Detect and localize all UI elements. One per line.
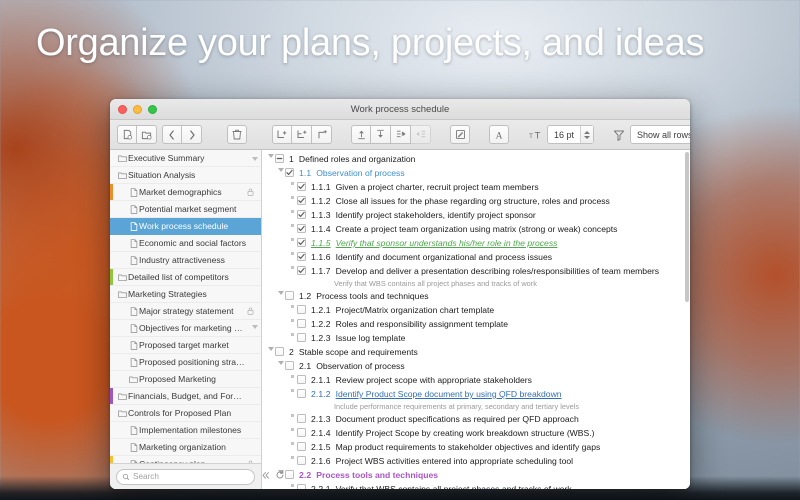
row-text: Roles and responsibility assignment temp… [336, 318, 690, 330]
sidebar-item-major-strategy-statement[interactable]: Major strategy statement [110, 303, 261, 320]
svg-text:T: T [535, 131, 541, 140]
outline-scrollbar[interactable] [685, 152, 689, 487]
folder-icon [117, 154, 128, 163]
row-bullet-icon [288, 441, 297, 445]
row-text: Issue log template [336, 332, 690, 344]
new-document-icon [122, 129, 133, 140]
sidebar-item-contingency-plan[interactable]: Contingency plan [110, 456, 261, 463]
disclosure-triangle-icon[interactable] [276, 360, 285, 365]
table-row[interactable]: 2.1.5Map product requirements to stakeho… [262, 440, 690, 454]
sidebar-scroll-indicator-top [252, 157, 258, 161]
window-body: Executive SummarySituation AnalysisMarke… [110, 150, 690, 489]
sidebar-item-label: Objectives for marketing plan [139, 323, 246, 333]
row-checkbox[interactable] [297, 238, 306, 247]
svg-text:T: T [529, 133, 533, 140]
row-text: Given a project charter, recruit project… [336, 181, 690, 193]
row-text: Verify that sponsor understands his/her … [336, 237, 690, 249]
sidebar-item-label: Potential market segment [139, 204, 246, 214]
back-chevron-icon [168, 130, 176, 140]
row-number: 1.1.6 [306, 251, 336, 263]
row-number: 2.1.6 [306, 455, 336, 467]
disclosure-triangle-icon[interactable] [276, 167, 285, 172]
sidebar-item-situation-analysis[interactable]: Situation Analysis [110, 167, 261, 184]
file-icon [128, 205, 139, 214]
row-checkbox[interactable] [297, 210, 306, 219]
row-checkbox[interactable] [297, 305, 306, 314]
sidebar-item-label: Proposed positioning strategy [139, 357, 246, 367]
sidebar-item-label: Marketing organization [139, 442, 246, 452]
collapse-sidebar-icon [261, 471, 270, 480]
add-parent-row-icon [316, 129, 328, 140]
lock-icon [246, 460, 255, 463]
row-checkbox[interactable] [297, 442, 306, 451]
row-checkbox[interactable] [285, 168, 294, 177]
move-up-button[interactable] [351, 125, 371, 144]
outline-row-group: 2Stable scope and requirements [262, 345, 690, 359]
row-bullet-icon [288, 413, 297, 417]
sidebar-item-economic-and-social-factors[interactable]: Economic and social factors [110, 235, 261, 252]
sidebar-item-marketing-organization[interactable]: Marketing organization [110, 439, 261, 456]
row-bullet-icon [288, 209, 297, 213]
row-text: Observation of process [316, 167, 690, 179]
sidebar-item-industry-attractiveness[interactable]: Industry attractiveness [110, 252, 261, 269]
lock-icon [246, 307, 255, 315]
add-child-row-icon [296, 129, 308, 140]
row-checkbox[interactable] [297, 389, 306, 398]
row-text: Process tools and techniques [316, 469, 690, 481]
file-icon [128, 358, 139, 367]
row-checkbox[interactable] [297, 456, 306, 465]
add-parent-row-button[interactable] [312, 125, 332, 144]
row-checkbox[interactable] [297, 266, 306, 275]
row-text: Close all issues for the phase regarding… [336, 195, 690, 207]
toolbar: A T T 16 pt Show all rows [110, 120, 690, 150]
row-number: 1.2.2 [306, 318, 336, 330]
row-number: 2 [284, 346, 299, 358]
delete-button[interactable] [227, 125, 247, 144]
table-row[interactable]: 2.1.4Identify Project Scope by creating … [262, 426, 690, 440]
sidebar-item-label: Major strategy statement [139, 306, 246, 316]
indent-button[interactable] [391, 125, 411, 144]
row-number: 1.1.3 [306, 209, 336, 221]
sidebar-item-color-stripe [110, 388, 113, 404]
row-number: 2.1.3 [306, 413, 336, 425]
move-down-icon [375, 129, 386, 140]
new-folder-button[interactable] [137, 125, 157, 144]
sidebar-footer-actions [261, 470, 285, 480]
sidebar-item-label: Market demographics [139, 187, 246, 197]
search-icon [122, 473, 130, 481]
document-actions-group [117, 125, 157, 144]
outdent-icon [415, 129, 427, 140]
table-row[interactable]: 1.1Observation of process [262, 166, 690, 180]
outline-row-group: 1.2.1Project/Matrix organization chart t… [262, 303, 690, 317]
row-checkbox[interactable] [285, 361, 294, 370]
outline-row-group: 1.1.2Close all issues for the phase rega… [262, 194, 690, 208]
row-bullet-icon [288, 332, 297, 336]
row-checkbox[interactable] [275, 347, 284, 356]
row-number: 2.2 [294, 469, 316, 481]
font-size-value: 16 pt [548, 130, 580, 140]
sidebar-item-label: Detailed list of competitors [128, 272, 246, 282]
folder-icon [117, 392, 128, 401]
outline-row-group: 1.1.7Develop and deliver a presentation … [262, 264, 690, 289]
refresh-icon [275, 470, 285, 480]
row-bullet-icon [288, 237, 297, 241]
add-sibling-row-button[interactable] [272, 125, 292, 144]
file-icon [128, 256, 139, 265]
disclosure-triangle-icon[interactable] [266, 346, 275, 351]
sidebar-item-label: Situation Analysis [128, 170, 246, 180]
row-bullet-icon [288, 265, 297, 269]
svg-text:A: A [496, 131, 503, 140]
text-size-control[interactable]: T T [528, 125, 542, 144]
outline-row-group: 2.2Process tools and techniques [262, 468, 690, 482]
row-text: Identify Project Scope by creating work … [336, 427, 690, 439]
file-icon [128, 222, 139, 231]
sidebar-item-color-stripe [110, 456, 113, 463]
row-text: Verify that WBS contains all project pha… [336, 483, 690, 489]
outline-row-group: 1.1.3Identify project stakeholders, iden… [262, 208, 690, 222]
table-row[interactable]: 1.1.5Verify that sponsor understands his… [262, 236, 690, 250]
row-checkbox[interactable] [297, 252, 306, 261]
outline-row-group: 1.1.4Create a project team organization … [262, 222, 690, 236]
window-titlebar[interactable]: Work process schedule [110, 99, 690, 120]
window-title: Work process schedule [110, 104, 690, 115]
row-text: Defined roles and organization [299, 153, 690, 165]
close-button[interactable] [118, 105, 127, 114]
sidebar-item-label: Industry attractiveness [139, 255, 246, 265]
row-bullet-icon [288, 318, 297, 322]
outline-row-group: 1Defined roles and organization [262, 152, 690, 166]
sidebar-item-label: Economic and social factors [139, 238, 246, 248]
row-text: Create a project team organization using… [336, 223, 690, 235]
new-folder-icon [141, 129, 152, 140]
page-headline: Organize your plans, projects, and ideas [36, 22, 776, 65]
row-bullet-icon [288, 455, 297, 459]
sidebar-item-color-stripe [110, 184, 113, 200]
table-row[interactable]: 2.1.1Review project scope with appropria… [262, 373, 690, 387]
table-row[interactable]: 2Stable scope and requirements [262, 345, 690, 359]
row-number: 2.1.2 [306, 388, 336, 400]
table-row[interactable]: 1.1.1Given a project charter, recruit pr… [262, 180, 690, 194]
row-number: 1.1.4 [306, 223, 336, 235]
outline-row-group: 2.1.5Map product requirements to stakeho… [262, 440, 690, 454]
sidebar-item-label: Contingency plan [139, 459, 246, 463]
font-panel-icon: A [493, 129, 505, 141]
minimize-button[interactable] [133, 105, 142, 114]
outline-row-group: 1.1.5Verify that sponsor understands his… [262, 236, 690, 250]
sidebar-item-marketing-strategies[interactable]: Marketing Strategies [110, 286, 261, 303]
table-row[interactable]: 2.1.3Document product specifications as … [262, 412, 690, 426]
sidebar-list[interactable]: Executive SummarySituation AnalysisMarke… [110, 150, 261, 463]
outline-row-group: 1.2Process tools and techniques [262, 289, 690, 303]
folder-icon [117, 273, 128, 282]
font-panel-group: A [489, 125, 509, 144]
sidebar-scroll-indicator-bottom [252, 325, 258, 329]
sidebar-item-objectives-for-marketing-plan[interactable]: Objectives for marketing plan [110, 320, 261, 337]
note-group [450, 125, 470, 144]
sidebar-item-label: Marketing Strategies [128, 289, 246, 299]
row-checkbox[interactable] [297, 224, 306, 233]
table-row[interactable]: 2.2Process tools and techniques [262, 468, 690, 482]
sidebar-item-executive-summary[interactable]: Executive Summary [110, 150, 261, 167]
file-icon [128, 324, 139, 333]
navigation-group [162, 125, 202, 144]
row-bullet-icon [288, 195, 297, 199]
sidebar-item-financials-budget-and-forecasts[interactable]: Financials, Budget, and Forecasts [110, 388, 261, 405]
row-bullet-icon [288, 181, 297, 185]
table-row[interactable]: 1.2.3Issue log template [262, 331, 690, 345]
row-number: 2.1.5 [306, 441, 336, 453]
sidebar-item-label: Financials, Budget, and Forecasts [128, 391, 246, 401]
outline-row-group: 2.1Observation of process [262, 359, 690, 373]
refresh-button[interactable] [275, 470, 285, 480]
row-checkbox[interactable] [297, 333, 306, 342]
folder-icon [117, 409, 128, 418]
disclosure-triangle-icon[interactable] [276, 290, 285, 295]
row-checkbox[interactable] [285, 291, 294, 300]
row-text: Identify project stakeholders, identify … [336, 209, 690, 221]
table-row[interactable]: 1.1.7Develop and deliver a presentation … [262, 264, 690, 278]
row-number: 2.1 [294, 360, 316, 372]
row-bullet-icon [288, 251, 297, 255]
sidebar-item-controls-for-proposed-plan[interactable]: Controls for Proposed Plan [110, 405, 261, 422]
forward-chevron-icon [188, 130, 196, 140]
rows-filter-combo[interactable]: Show all rows [630, 125, 690, 144]
table-row[interactable]: 1.2.1Project/Matrix organization chart t… [262, 303, 690, 317]
file-icon [128, 341, 139, 350]
sidebar-item-detailed-list-of-competitors[interactable]: Detailed list of competitors [110, 269, 261, 286]
back-button[interactable] [162, 125, 182, 144]
edit-note-button[interactable] [450, 125, 470, 144]
sidebar-item-work-process-schedule[interactable]: Work process schedule [110, 218, 261, 235]
outline-row-group: 2.2.1Verify that WBS contains all projec… [262, 482, 690, 489]
rows-filter-value: Show all rows [631, 130, 690, 140]
row-number: 1.1 [294, 167, 316, 179]
indent-icon [395, 129, 407, 140]
row-number: 1 [284, 153, 299, 165]
row-checkbox[interactable] [275, 154, 284, 163]
outline-row-group: 1.1.1Given a project charter, recruit pr… [262, 180, 690, 194]
outline-row-group: 2.1.2Identify Product Scope document by … [262, 387, 690, 412]
table-row[interactable]: 1.1.4Create a project team organization … [262, 222, 690, 236]
delete-group [227, 125, 247, 144]
table-row[interactable]: 1.1.3Identify project stakeholders, iden… [262, 208, 690, 222]
table-row[interactable]: 1.1.2Close all issues for the phase rega… [262, 194, 690, 208]
row-text: Observation of process [316, 360, 690, 372]
font-size-stepper[interactable] [580, 126, 593, 143]
row-number: 1.2.1 [306, 304, 336, 316]
row-note: Verify that WBS contains all project pha… [262, 278, 690, 289]
collapse-sidebar-button[interactable] [261, 471, 270, 480]
new-document-button[interactable] [117, 125, 137, 144]
file-icon [128, 307, 139, 316]
row-checkbox[interactable] [297, 319, 306, 328]
outline-row-group: 2.1.3Document product specifications as … [262, 412, 690, 426]
row-text: Project WBS activities entered into appr… [336, 455, 690, 467]
table-row[interactable]: 1.2Process tools and techniques [262, 289, 690, 303]
sidebar: Executive SummarySituation AnalysisMarke… [110, 150, 262, 489]
row-note: Include performance requirements at prim… [262, 401, 690, 412]
table-row[interactable]: 1Defined roles and organization [262, 152, 690, 166]
font-size-combo[interactable]: 16 pt [547, 125, 594, 144]
outline-row-group: 2.1.1Review project scope with appropria… [262, 373, 690, 387]
row-text: Document product specifications as requi… [336, 413, 690, 425]
zoom-button[interactable] [148, 105, 157, 114]
move-up-icon [356, 129, 367, 140]
outdent-button[interactable] [411, 125, 431, 144]
row-checkbox[interactable] [297, 196, 306, 205]
row-text: Stable scope and requirements [299, 346, 690, 358]
table-row[interactable]: 1.2.2Roles and responsibility assignment… [262, 317, 690, 331]
font-panel-button[interactable]: A [489, 125, 509, 144]
sidebar-item-label: Controls for Proposed Plan [128, 408, 246, 418]
row-checkbox[interactable] [297, 182, 306, 191]
sidebar-item-proposed-positioning-strategy[interactable]: Proposed positioning strategy [110, 354, 261, 371]
row-text: Map product requirements to stakeholder … [336, 441, 690, 453]
trash-icon [232, 129, 242, 140]
row-text: Project/Matrix organization chart templa… [336, 304, 690, 316]
sidebar-item-proposed-marketing[interactable]: Proposed Marketing [110, 371, 261, 388]
search-placeholder: Search [133, 472, 159, 481]
sidebar-item-potential-market-segment[interactable]: Potential market segment [110, 201, 261, 218]
file-icon [128, 188, 139, 197]
filter-control[interactable] [613, 125, 625, 144]
outline-row-group: 2.1.6Project WBS activities entered into… [262, 454, 690, 468]
row-number: 2.1.4 [306, 427, 336, 439]
table-row[interactable]: 2.1.2Identify Product Scope document by … [262, 387, 690, 401]
outline-row-group: 1.1Observation of process [262, 166, 690, 180]
sidebar-item-label: Proposed Marketing [139, 374, 246, 384]
row-text: Identify and document organizational and… [336, 251, 690, 263]
row-bullet-icon [288, 304, 297, 308]
filter-funnel-icon [613, 129, 625, 141]
row-text: Identify Product Scope document by using… [336, 388, 690, 400]
sidebar-item-label: Implementation milestones [139, 425, 246, 435]
disclosure-triangle-icon[interactable] [266, 153, 275, 158]
row-number: 2.2.1 [306, 483, 336, 489]
folder-icon [117, 290, 128, 299]
row-text: Review project scope with appropriate st… [336, 374, 690, 386]
sidebar-item-implementation-milestones[interactable]: Implementation milestones [110, 422, 261, 439]
outline-rows[interactable]: 1Defined roles and organization1.1Observ… [262, 150, 690, 489]
table-row[interactable]: 1.1.6Identify and document organizationa… [262, 250, 690, 264]
add-row-group [272, 125, 332, 144]
row-bullet-icon [288, 427, 297, 431]
row-text: Process tools and techniques [316, 290, 690, 302]
forward-button[interactable] [182, 125, 202, 144]
row-checkbox[interactable] [297, 375, 306, 384]
file-icon [128, 426, 139, 435]
table-row[interactable]: 2.2.1Verify that WBS contains all projec… [262, 482, 690, 489]
move-down-button[interactable] [371, 125, 391, 144]
add-row-icon [276, 129, 288, 140]
row-checkbox[interactable] [297, 484, 306, 489]
sidebar-item-proposed-target-market[interactable]: Proposed target market [110, 337, 261, 354]
row-text: Develop and deliver a presentation descr… [336, 265, 690, 277]
row-checkbox[interactable] [285, 470, 294, 479]
sidebar-item-market-demographics[interactable]: Market demographics [110, 184, 261, 201]
outline-row-group: 1.1.6Identify and document organizationa… [262, 250, 690, 264]
outline-pane[interactable]: 1Defined roles and organization1.1Observ… [262, 150, 690, 489]
search-input[interactable]: Search [116, 469, 255, 485]
move-indent-group [351, 125, 431, 144]
file-icon [128, 443, 139, 452]
sidebar-item-label: Executive Summary [128, 153, 246, 163]
add-child-row-button[interactable] [292, 125, 312, 144]
table-row[interactable]: 2.1.6Project WBS activities entered into… [262, 454, 690, 468]
outline-row-group: 1.2.2Roles and responsibility assignment… [262, 317, 690, 331]
window-controls[interactable] [118, 105, 157, 114]
row-number: 1.1.7 [306, 265, 336, 277]
folder-icon [117, 171, 128, 180]
file-icon [128, 239, 139, 248]
row-bullet-icon [288, 374, 297, 378]
table-row[interactable]: 2.1Observation of process [262, 359, 690, 373]
text-size-icon: T T [528, 129, 542, 140]
row-checkbox[interactable] [297, 428, 306, 437]
outline-row-group: 2.1.4Identify Project Scope by creating … [262, 426, 690, 440]
folder-icon [128, 375, 139, 384]
row-bullet-icon [288, 483, 297, 487]
sidebar-footer: Search [110, 463, 261, 489]
row-number: 1.1.5 [306, 237, 336, 249]
outline-row-group: 1.2.3Issue log template [262, 331, 690, 345]
row-number: 2.1.1 [306, 374, 336, 386]
row-number: 1.1.2 [306, 195, 336, 207]
file-icon [128, 460, 139, 464]
row-number: 1.2.3 [306, 332, 336, 344]
row-bullet-icon [288, 223, 297, 227]
row-checkbox[interactable] [297, 414, 306, 423]
edit-note-icon [455, 129, 466, 140]
row-number: 1.1.1 [306, 181, 336, 193]
row-bullet-icon [288, 388, 297, 392]
lock-icon [246, 188, 255, 196]
sidebar-item-color-stripe [110, 269, 113, 285]
row-number: 1.2 [294, 290, 316, 302]
sidebar-item-label: Proposed target market [139, 340, 246, 350]
sidebar-item-label: Work process schedule [139, 221, 246, 231]
app-window: Work process schedule [110, 99, 690, 489]
